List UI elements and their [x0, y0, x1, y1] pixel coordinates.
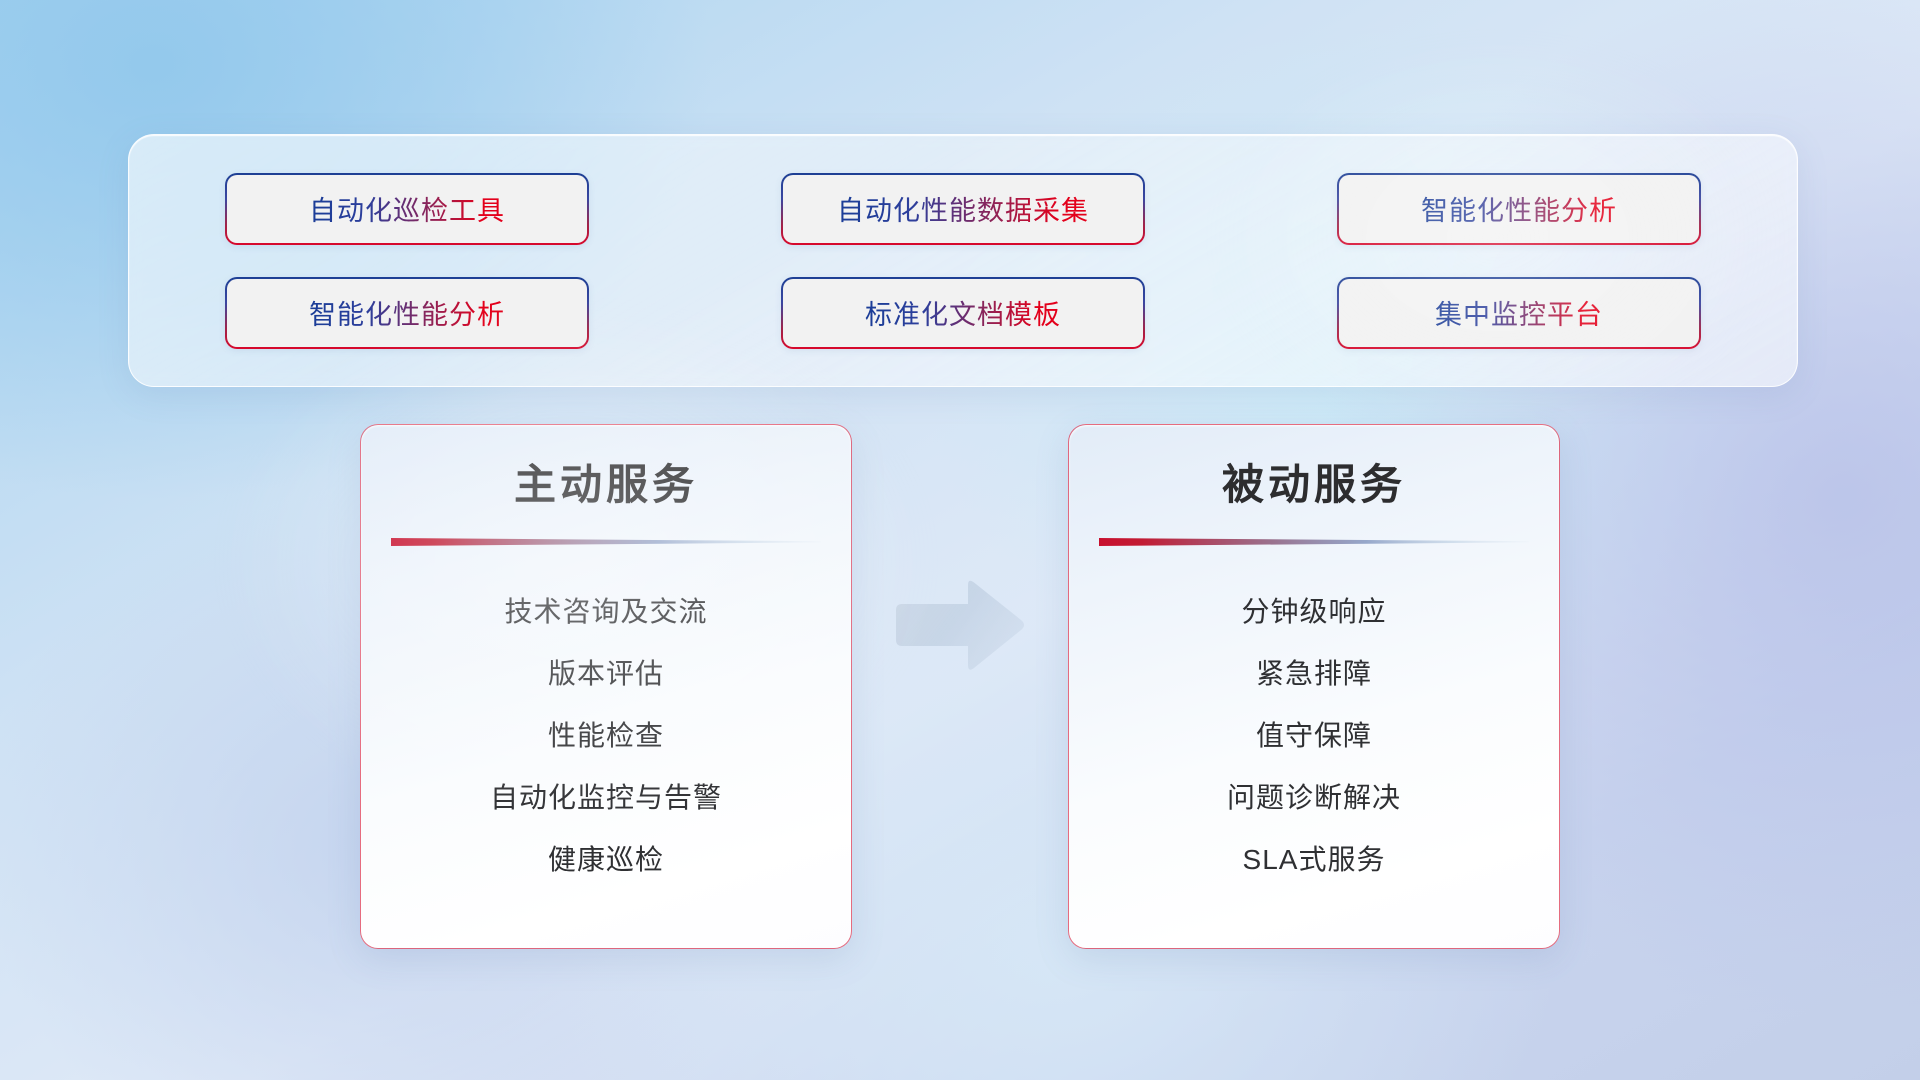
service-card-reactive[interactable]: 被动服务 [1068, 424, 1560, 949]
card-divider [1099, 536, 1529, 547]
capability-tag-row-1: 自动化巡检工具 自动化性能数据采集 智能化性能分析 [225, 173, 1701, 245]
service-list-item: 紧急排障 [1099, 643, 1529, 705]
service-card-proactive[interactable]: 主动服务 [360, 424, 852, 949]
capability-tag[interactable]: 自动化巡检工具 [225, 173, 589, 245]
service-list-item: 值守保障 [1099, 705, 1529, 767]
capability-tag[interactable]: 智能化性能分析 [1337, 173, 1701, 245]
capability-tag-label: 智能化性能分析 [1421, 189, 1617, 228]
service-list-item: 版本评估 [391, 643, 821, 705]
service-list-item: 性能检查 [391, 705, 821, 767]
service-item-list: 分钟级响应 紧急排障 值守保障 问题诊断解决 SLA式服务 [1099, 581, 1529, 891]
capability-tag-label: 智能化性能分析 [309, 293, 505, 332]
capability-tag[interactable]: 集中监控平台 [1337, 277, 1701, 349]
capability-tag-label: 自动化性能数据采集 [837, 189, 1089, 228]
service-list-item: SLA式服务 [1099, 829, 1529, 891]
flow-arrow [852, 576, 1068, 676]
service-list-item: 问题诊断解决 [1099, 767, 1529, 829]
service-list-item: 技术咨询及交流 [391, 581, 821, 643]
service-list-item: 自动化监控与告警 [391, 767, 821, 829]
capability-tag-label: 集中监控平台 [1435, 293, 1603, 332]
capability-tag[interactable]: 标准化文档模板 [781, 277, 1145, 349]
service-list-item: 健康巡检 [391, 829, 821, 891]
capability-tag-label: 标准化文档模板 [865, 293, 1061, 332]
capability-tag[interactable]: 自动化性能数据采集 [781, 173, 1145, 245]
card-divider [391, 536, 821, 547]
capability-tag-panel: 自动化巡检工具 自动化性能数据采集 智能化性能分析 智能化性能分析 标准化文档模… [128, 134, 1798, 387]
capability-tag-row-2: 智能化性能分析 标准化文档模板 集中监控平台 [225, 277, 1701, 349]
service-item-list: 技术咨询及交流 版本评估 性能检查 自动化监控与告警 健康巡检 [391, 581, 821, 891]
capability-tag[interactable]: 智能化性能分析 [225, 277, 589, 349]
service-card-title: 被动服务 [1099, 459, 1529, 512]
service-cards-region: 主动服务 [0, 424, 1920, 949]
diagram-canvas: 自动化巡检工具 自动化性能数据采集 智能化性能分析 智能化性能分析 标准化文档模… [0, 0, 1920, 1080]
service-list-item: 分钟级响应 [1099, 581, 1529, 643]
arrow-right-icon [890, 576, 1030, 676]
service-card-title: 主动服务 [391, 459, 821, 512]
capability-tag-label: 自动化巡检工具 [309, 189, 505, 228]
